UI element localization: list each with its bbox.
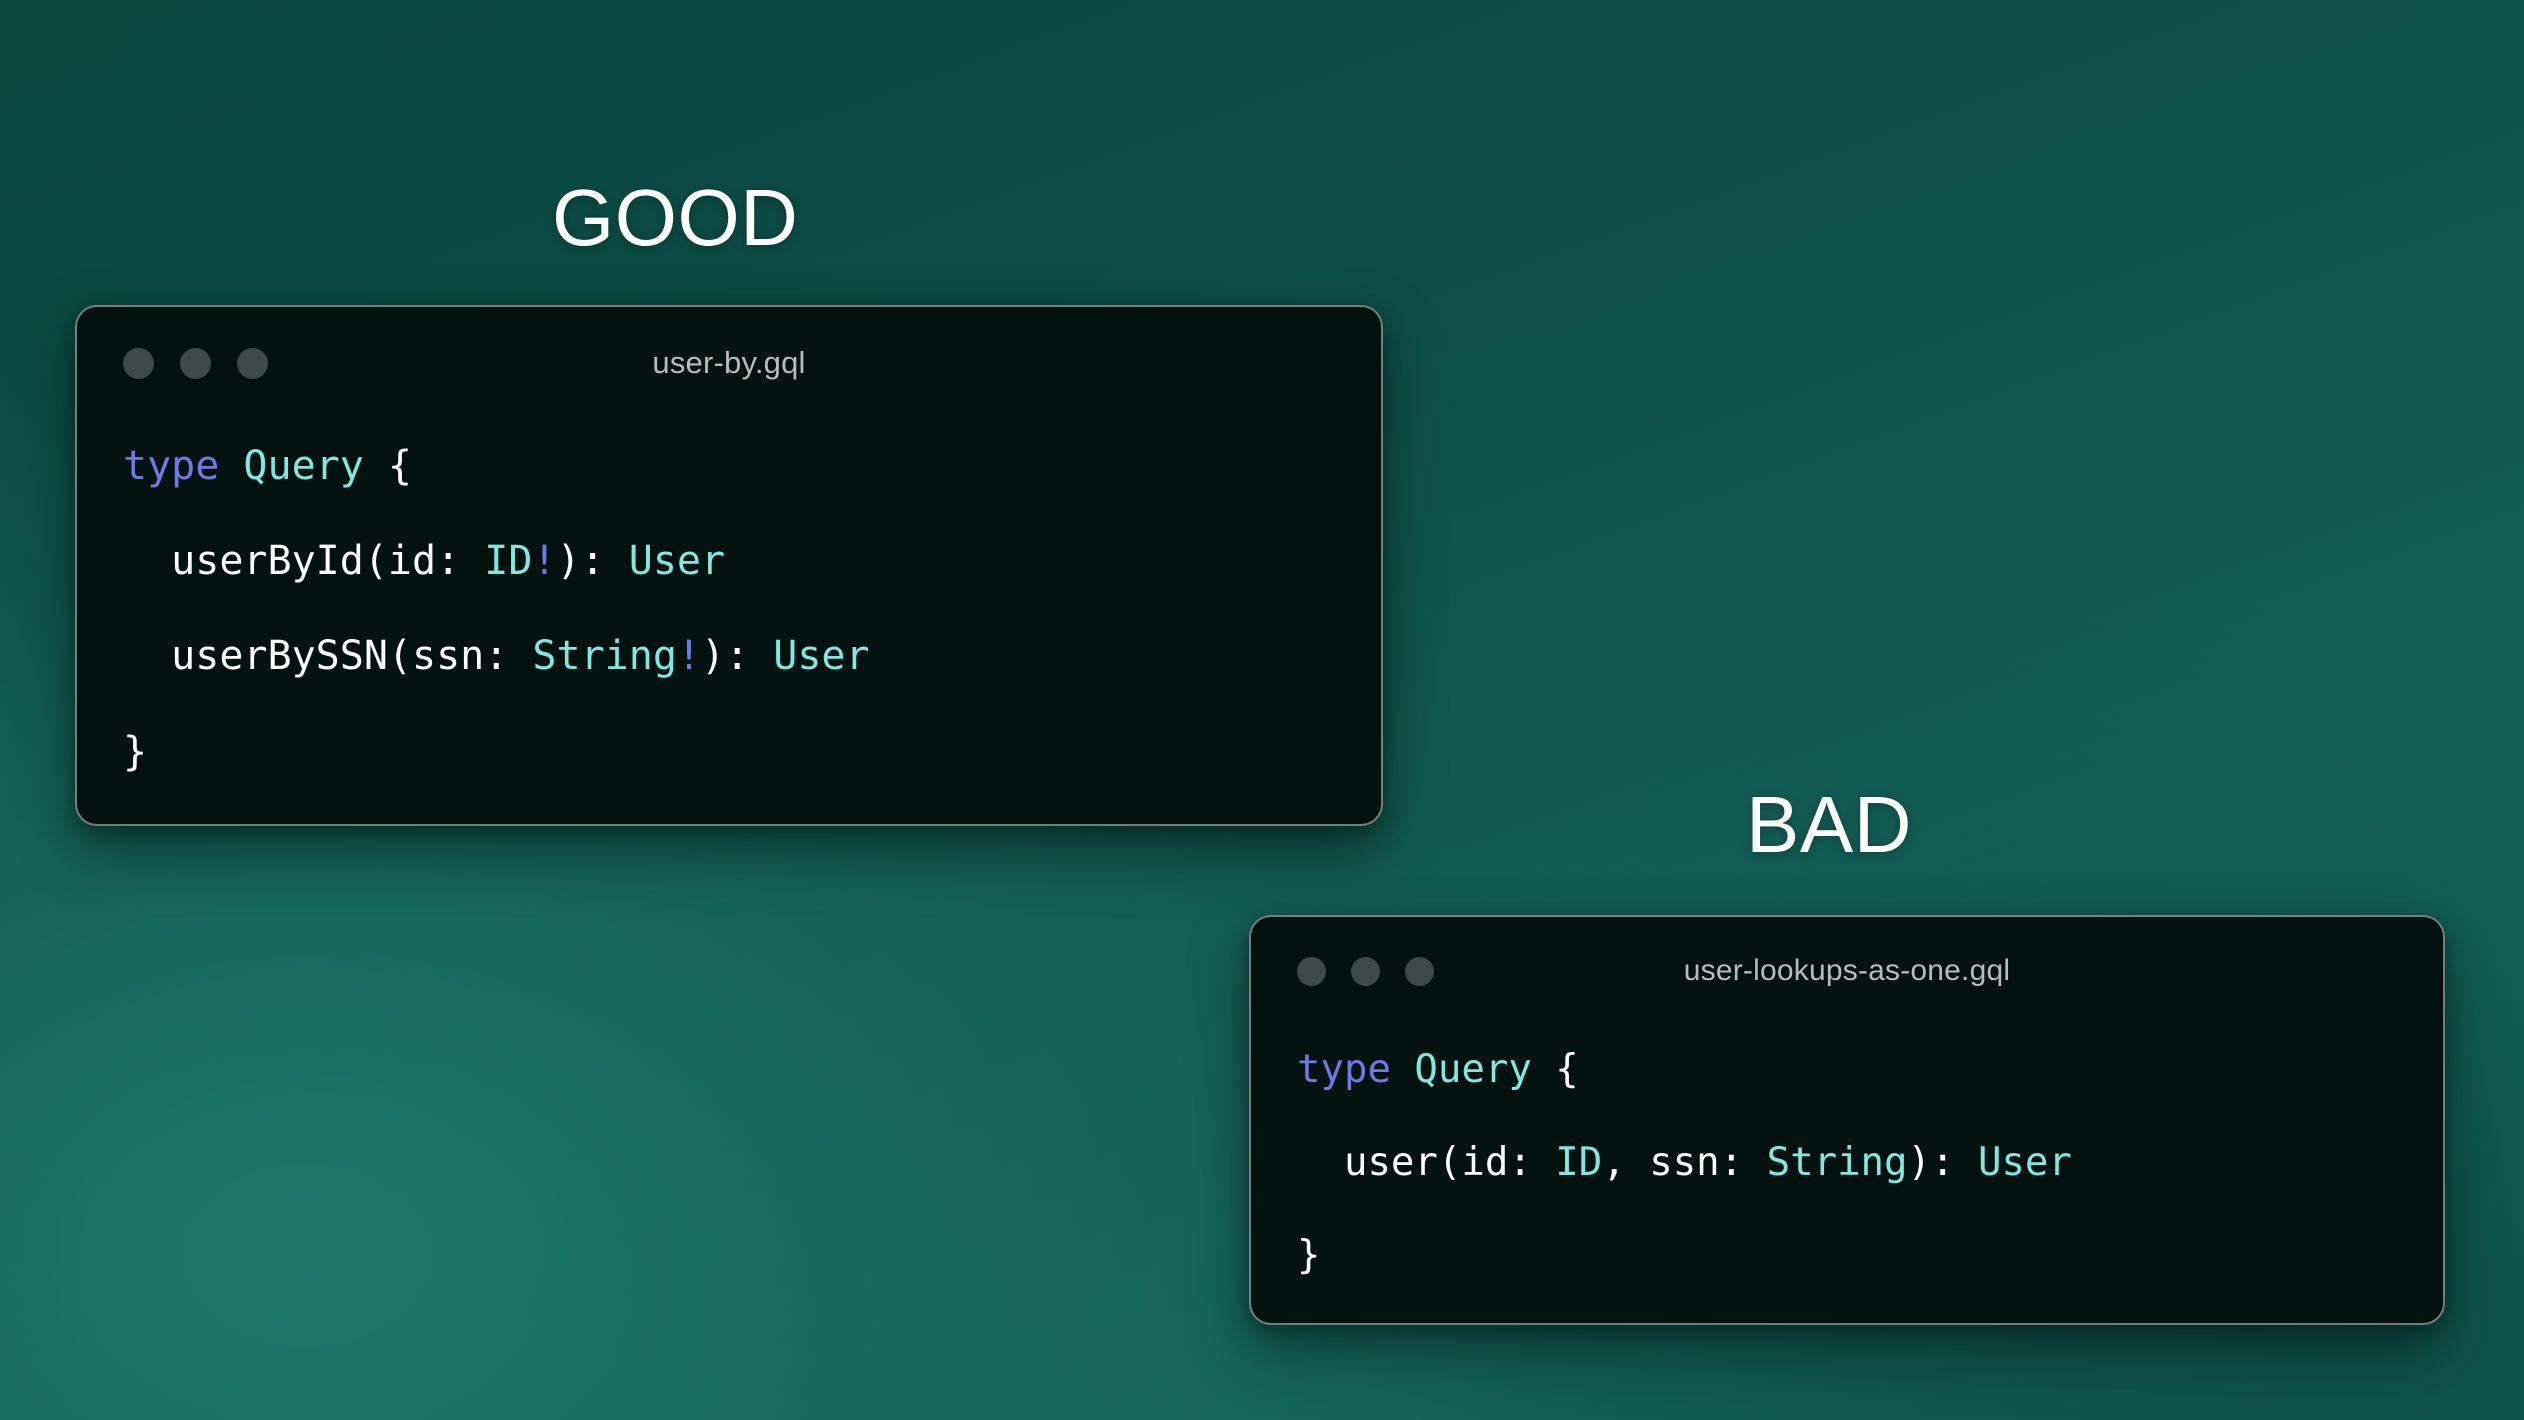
code-token-type: User [629, 538, 725, 584]
code-token-type: User [1978, 1140, 2072, 1185]
code-token-plain: , ssn: [1602, 1140, 1766, 1185]
code-token-plain: user(id: [1297, 1140, 1555, 1185]
window-title: user-by.gql [77, 345, 1381, 381]
window-titlebar: user-lookups-as-one.gql [1251, 917, 2443, 1025]
code-token-plain [1391, 1047, 1414, 1092]
code-line: } [123, 729, 1335, 777]
minimize-dot-icon[interactable] [1351, 957, 1380, 986]
code-token-keyword: type [1297, 1047, 1391, 1092]
traffic-light-dots [1297, 957, 1434, 986]
good-example-label: GOOD [552, 178, 798, 258]
code-window-good: user-by.gql type Query { userById(id: ID… [75, 305, 1383, 826]
code-line: } [1297, 1233, 2397, 1279]
code-block: type Query { user(id: ID, ssn: String): … [1251, 1025, 2443, 1279]
code-token-plain: } [123, 729, 147, 775]
code-token-plain: userById(id: [123, 538, 484, 584]
code-line: user(id: ID, ssn: String): User [1297, 1140, 2397, 1186]
code-token-plain: } [1297, 1233, 1320, 1278]
code-token-plain: { [364, 443, 412, 489]
code-token-type: Query [243, 443, 363, 489]
close-dot-icon[interactable] [123, 348, 154, 379]
code-token-type: ID [484, 538, 532, 584]
maximize-dot-icon[interactable] [1405, 957, 1434, 986]
code-token-bang: ! [532, 538, 556, 584]
window-titlebar: user-by.gql [77, 307, 1381, 419]
minimize-dot-icon[interactable] [180, 348, 211, 379]
code-line: userBySSN(ssn: String!): User [123, 633, 1335, 681]
code-line: type Query { [123, 443, 1335, 491]
code-window-bad: user-lookups-as-one.gql type Query { use… [1249, 915, 2445, 1325]
maximize-dot-icon[interactable] [237, 348, 268, 379]
code-token-keyword: type [123, 443, 219, 489]
code-token-type: String [532, 633, 677, 679]
code-line: userById(id: ID!): User [123, 538, 1335, 586]
code-token-plain: ): [557, 538, 629, 584]
code-token-type: String [1767, 1140, 1908, 1185]
code-token-plain: userBySSN(ssn: [123, 633, 532, 679]
code-token-plain: { [1532, 1047, 1579, 1092]
close-dot-icon[interactable] [1297, 957, 1326, 986]
slide-canvas: { "background": { "base_color": "#0d4b44… [0, 0, 2524, 1420]
code-token-plain [219, 443, 243, 489]
code-line: type Query { [1297, 1047, 2397, 1093]
code-block: type Query { userById(id: ID!): User use… [77, 419, 1381, 776]
code-token-type: Query [1414, 1047, 1531, 1092]
bad-example-label: BAD [1746, 785, 1912, 865]
code-token-bang: ! [677, 633, 701, 679]
code-token-type: User [773, 633, 869, 679]
code-token-plain: ): [1908, 1140, 1978, 1185]
code-token-type: ID [1555, 1140, 1602, 1185]
traffic-light-dots [123, 348, 268, 379]
code-token-plain: ): [701, 633, 773, 679]
